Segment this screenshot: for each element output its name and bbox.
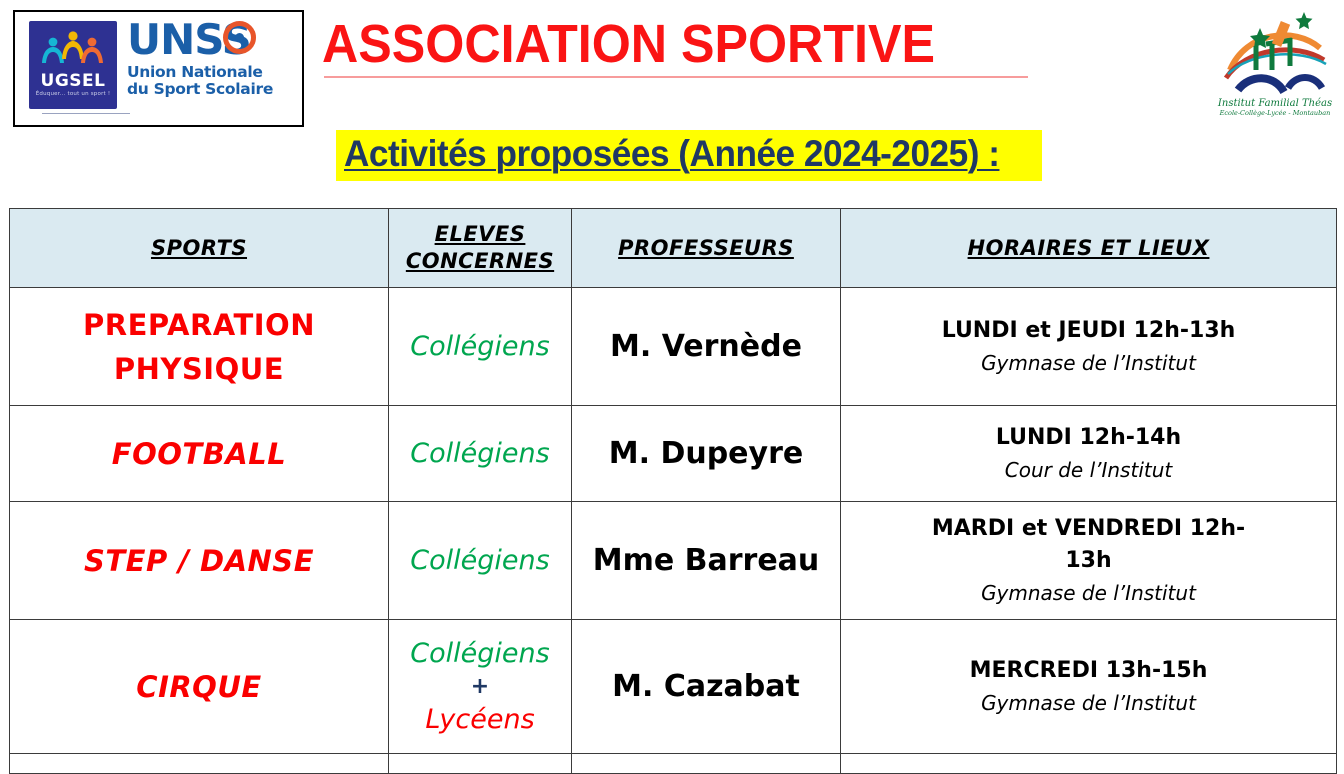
ift-logo-line1: Institut Familial Théas bbox=[1217, 98, 1332, 109]
horaire-time: MERCREDI 13h-15h bbox=[855, 655, 1322, 687]
activities-table-wrap: SPORTS ELEVESCONCERNES PROFESSEURS HORAI… bbox=[9, 208, 1336, 774]
table-row-partial bbox=[10, 754, 1337, 774]
subtitle-highlight: Activités proposées (Année 2024-2025) : bbox=[336, 130, 1042, 181]
horaires-block: LUNDI 12h-14h Cour de l’Institut bbox=[841, 418, 1336, 490]
ugsel-figures-icon bbox=[29, 29, 117, 69]
column-header-horaires-label: HORAIRES ET LIEUX bbox=[841, 235, 1336, 262]
column-header-horaires: HORAIRES ET LIEUX bbox=[841, 209, 1337, 288]
cell-eleves: Collégiens bbox=[389, 288, 572, 406]
sport-name: PREPARATION PHYSIQUE bbox=[10, 303, 388, 391]
eleves-collegiens: Collégiens bbox=[389, 329, 571, 365]
sport-name: STEP / DANSE bbox=[10, 539, 388, 583]
horaire-time-cont: 13h bbox=[855, 545, 1322, 577]
cell-horaires: LUNDI et JEUDI 12h-13h Gymnase de l’Inst… bbox=[841, 288, 1337, 406]
unss-logo: UNSS Union Nationale du Sport Scolaire bbox=[127, 18, 302, 98]
cell-professeur: M. Dupeyre bbox=[572, 406, 841, 502]
cell-sport: STEP / DANSE bbox=[10, 502, 389, 620]
page-title: ASSOCIATION SPORTIVE bbox=[322, 14, 935, 74]
column-header-eleves: ELEVESCONCERNES bbox=[389, 209, 572, 288]
cell-sport: FOOTBALL bbox=[10, 406, 389, 502]
cell-eleves bbox=[389, 754, 572, 774]
horaire-time: LUNDI et JEUDI 12h-13h bbox=[855, 315, 1322, 347]
sport-name-line1: PREPARATION bbox=[83, 308, 315, 342]
sport-name: CIRQUE bbox=[10, 665, 388, 709]
professeur-name: M. Dupeyre bbox=[572, 434, 840, 474]
cell-sport: PREPARATION PHYSIQUE bbox=[10, 288, 389, 406]
table-row: PREPARATION PHYSIQUE Collégiens M. Vernè… bbox=[10, 288, 1337, 406]
cell-eleves: Collégiens bbox=[389, 406, 572, 502]
horaire-time: LUNDI 12h-14h bbox=[855, 422, 1322, 454]
cell-eleves: Collégiens bbox=[389, 502, 572, 620]
unss-subtitle-line1: Union Nationale bbox=[127, 64, 302, 81]
column-header-sports: SPORTS bbox=[10, 209, 389, 288]
page-header: UGSEL Éduquer... tout un sport ! UNSS Un… bbox=[0, 0, 1344, 196]
horaire-lieu: Cour de l’Institut bbox=[855, 454, 1322, 486]
page-title-underline bbox=[324, 76, 1028, 78]
professeur-name: Mme Barreau bbox=[572, 541, 840, 581]
ift-logo: Institut Familial Théas Ecole-Collège-Ly… bbox=[1216, 8, 1334, 120]
column-header-eleves-label: ELEVESCONCERNES bbox=[389, 221, 571, 275]
cell-horaires: MERCREDI 13h-15h Gymnase de l’Institut bbox=[841, 620, 1337, 754]
sport-name: FOOTBALL bbox=[10, 432, 388, 476]
eleves-collegiens: Collégiens bbox=[389, 636, 571, 672]
professeur-name: M. Vernède bbox=[572, 327, 840, 367]
eleves-collegiens: Collégiens bbox=[389, 543, 571, 579]
horaire-lieu: Gymnase de l’Institut bbox=[855, 577, 1322, 609]
eleves-list: Collégiens bbox=[389, 329, 571, 365]
cell-horaires bbox=[841, 754, 1337, 774]
horaires-block: MERCREDI 13h-15h Gymnase de l’Institut bbox=[841, 651, 1336, 723]
logo-divider-rule bbox=[42, 113, 130, 114]
table-row: FOOTBALL Collégiens M. Dupeyre LUNDI 12h… bbox=[10, 406, 1337, 502]
eleves-collegiens: Collégiens bbox=[389, 436, 571, 472]
unss-ball-icon bbox=[223, 21, 256, 54]
cell-horaires: LUNDI 12h-14h Cour de l’Institut bbox=[841, 406, 1337, 502]
activities-table-body: PREPARATION PHYSIQUE Collégiens M. Vernè… bbox=[10, 288, 1337, 774]
eleves-list: Collégiens bbox=[389, 543, 571, 579]
unss-subtitle-line2: du Sport Scolaire bbox=[127, 81, 302, 98]
column-header-professeurs: PROFESSEURS bbox=[572, 209, 841, 288]
eleves-list: Collégiens + Lycéens bbox=[389, 636, 571, 738]
ift-logo-icon: Institut Familial Théas Ecole-Collège-Ly… bbox=[1216, 8, 1334, 120]
cell-horaires: MARDI et VENDREDI 12h- 13h Gymnase de l’… bbox=[841, 502, 1337, 620]
eleves-plus-sign: + bbox=[389, 672, 571, 702]
eleves-lyceens: Lycéens bbox=[389, 702, 571, 738]
horaire-lieu: Gymnase de l’Institut bbox=[855, 687, 1322, 719]
eleves-list: Collégiens bbox=[389, 436, 571, 472]
ugsel-tagline: Éduquer... tout un sport ! bbox=[29, 91, 117, 97]
column-header-professeurs-label: PROFESSEURS bbox=[572, 235, 840, 262]
horaire-time: MARDI et VENDREDI 12h- bbox=[855, 513, 1322, 545]
ugsel-logo-icon: UGSEL Éduquer... tout un sport ! bbox=[29, 21, 117, 109]
cell-sport bbox=[10, 754, 389, 774]
activities-table: SPORTS ELEVESCONCERNES PROFESSEURS HORAI… bbox=[9, 208, 1337, 774]
sport-name-line2: PHYSIQUE bbox=[114, 352, 284, 386]
subtitle-text: Activités proposées (Année 2024-2025) : bbox=[344, 133, 999, 175]
horaire-lieu: Gymnase de l’Institut bbox=[855, 347, 1322, 379]
ugsel-unss-logo-box: UGSEL Éduquer... tout un sport ! UNSS Un… bbox=[13, 10, 304, 127]
professeur-name: M. Cazabat bbox=[572, 667, 840, 707]
table-row: STEP / DANSE Collégiens Mme Barreau MARD… bbox=[10, 502, 1337, 620]
cell-professeur: M. Vernède bbox=[572, 288, 841, 406]
cell-professeur bbox=[572, 754, 841, 774]
horaires-block: LUNDI et JEUDI 12h-13h Gymnase de l’Inst… bbox=[841, 311, 1336, 383]
cell-professeur: Mme Barreau bbox=[572, 502, 841, 620]
cell-sport: CIRQUE bbox=[10, 620, 389, 754]
cell-eleves: Collégiens + Lycéens bbox=[389, 620, 572, 754]
cell-professeur: M. Cazabat bbox=[572, 620, 841, 754]
column-header-sports-label: SPORTS bbox=[10, 235, 388, 262]
ift-logo-line2: Ecole-Collège-Lycée - Montauban bbox=[1219, 109, 1331, 117]
unss-wordmark: UNSS bbox=[127, 18, 302, 64]
table-header-row: SPORTS ELEVESCONCERNES PROFESSEURS HORAI… bbox=[10, 209, 1337, 288]
horaires-block: MARDI et VENDREDI 12h- 13h Gymnase de l’… bbox=[841, 509, 1336, 613]
ugsel-wordmark: UGSEL bbox=[29, 71, 117, 91]
table-row: CIRQUE Collégiens + Lycéens M. Cazabat M… bbox=[10, 620, 1337, 754]
